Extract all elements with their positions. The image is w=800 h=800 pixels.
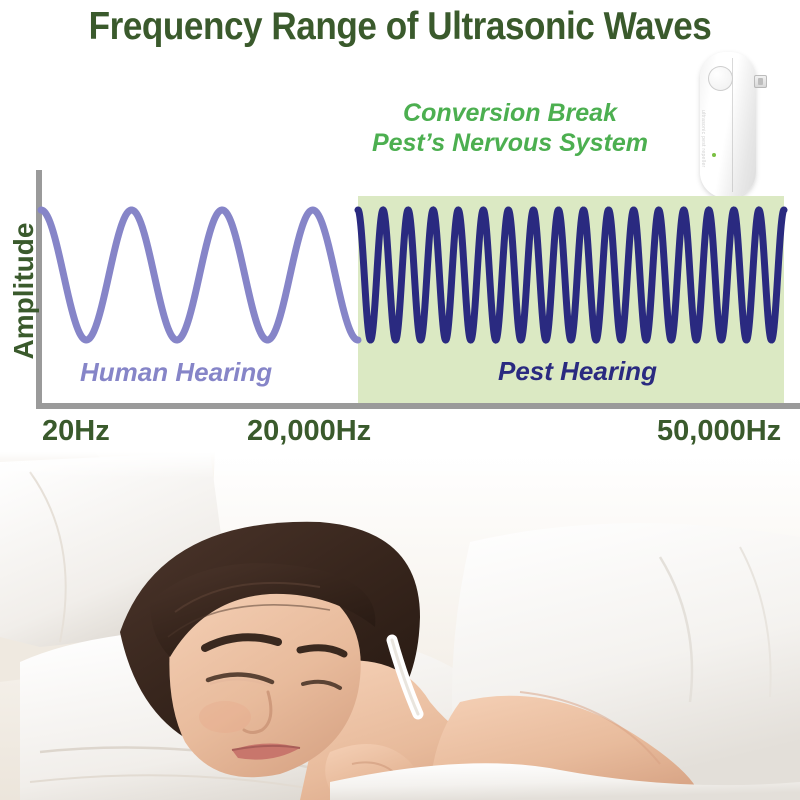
frequency-range-chart: Amplitude Human Hearing Pest Hearing 20H…	[0, 0, 800, 455]
infographic-root: Frequency Range of Ultrasonic Waves Conv…	[0, 0, 800, 800]
photo-illustration	[0, 452, 800, 800]
x-tick-20000hz: 20,000Hz	[247, 415, 371, 448]
human-hearing-waveform	[41, 210, 358, 340]
x-tick-20hz: 20Hz	[42, 415, 110, 448]
pest-hearing-band-label: Pest Hearing	[498, 356, 657, 387]
x-tick-50000hz: 50,000Hz	[657, 415, 781, 448]
human-hearing-band-label: Human Hearing	[80, 357, 272, 388]
pest-hearing-waveform	[358, 210, 784, 340]
sleeping-woman-photo	[0, 452, 800, 800]
